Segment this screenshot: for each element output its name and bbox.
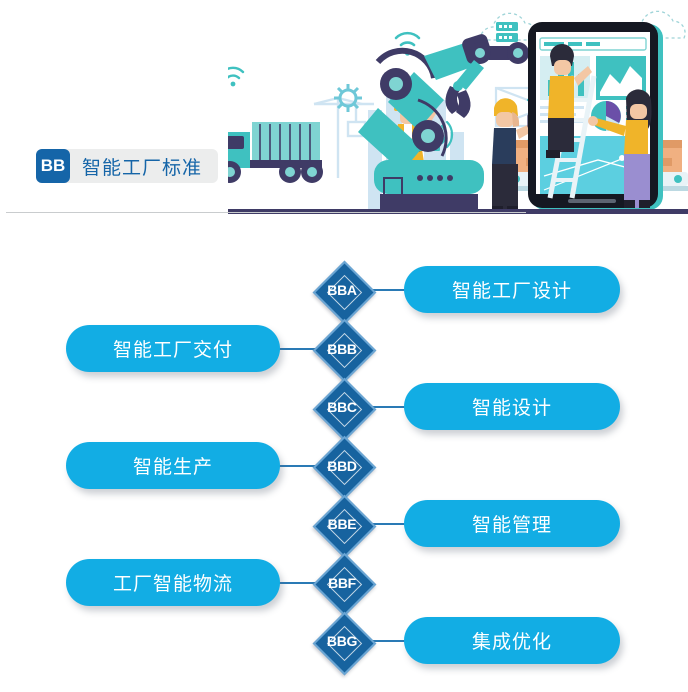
- header-divider: [6, 212, 526, 213]
- diamond-code-label: BBD: [313, 437, 371, 495]
- diamond-node-bbg[interactable]: BBG: [313, 612, 371, 670]
- diamond-node-bbf[interactable]: BBF: [313, 554, 371, 612]
- diamond-code-label: BBA: [313, 261, 371, 319]
- diagram-row: 智能工厂设计BBA: [0, 261, 688, 321]
- diagram-row: 工厂智能物流BBF: [0, 554, 688, 614]
- diagram-row: 集成优化BBG: [0, 612, 688, 672]
- node-label-pill-bbe[interactable]: 智能管理: [404, 500, 620, 547]
- node-label-pill-bba[interactable]: 智能工厂设计: [404, 266, 620, 313]
- diamond-node-bbb[interactable]: BBB: [313, 320, 371, 378]
- diamond-code-label: BBC: [313, 378, 371, 436]
- title-badge: BB 智能工厂标准: [36, 149, 218, 183]
- wifi-signal-icon-truck: [228, 68, 243, 87]
- gear-icon: [334, 84, 362, 112]
- diamond-code-label: BBF: [313, 554, 371, 612]
- smart-factory-standard-diagram: 智能工厂设计BBA智能工厂交付BBB智能设计BBC智能生产BBD智能管理BBE工…: [0, 220, 688, 692]
- diamond-node-bbc[interactable]: BBC: [313, 378, 371, 436]
- diagram-row: 智能管理BBE: [0, 495, 688, 555]
- node-label-pill-bbf[interactable]: 工厂智能物流: [66, 559, 280, 606]
- badge-code: BB: [36, 149, 70, 183]
- diagram-row: 智能设计BBC: [0, 378, 688, 438]
- smart-factory-illustration: [228, 0, 688, 216]
- diagram-row: 智能生产BBD: [0, 437, 688, 497]
- node-label-pill-bbd[interactable]: 智能生产: [66, 442, 280, 489]
- diamond-node-bba[interactable]: BBA: [313, 261, 371, 319]
- diamond-code-label: BBE: [313, 495, 371, 553]
- diamond-node-bbd[interactable]: BBD: [313, 437, 371, 495]
- diamond-code-label: BBB: [313, 320, 371, 378]
- page-header: BB 智能工厂标准: [0, 0, 688, 220]
- delivery-truck: [228, 122, 323, 183]
- diagram-row: 智能工厂交付BBB: [0, 320, 688, 380]
- diamond-node-bbe[interactable]: BBE: [313, 495, 371, 553]
- page-title: 智能工厂标准: [82, 153, 202, 180]
- node-label-pill-bbc[interactable]: 智能设计: [404, 383, 620, 430]
- node-label-pill-bbb[interactable]: 智能工厂交付: [66, 325, 280, 372]
- cloud-server-icon: [496, 22, 518, 42]
- diamond-code-label: BBG: [313, 612, 371, 670]
- node-label-pill-bbg[interactable]: 集成优化: [404, 617, 620, 664]
